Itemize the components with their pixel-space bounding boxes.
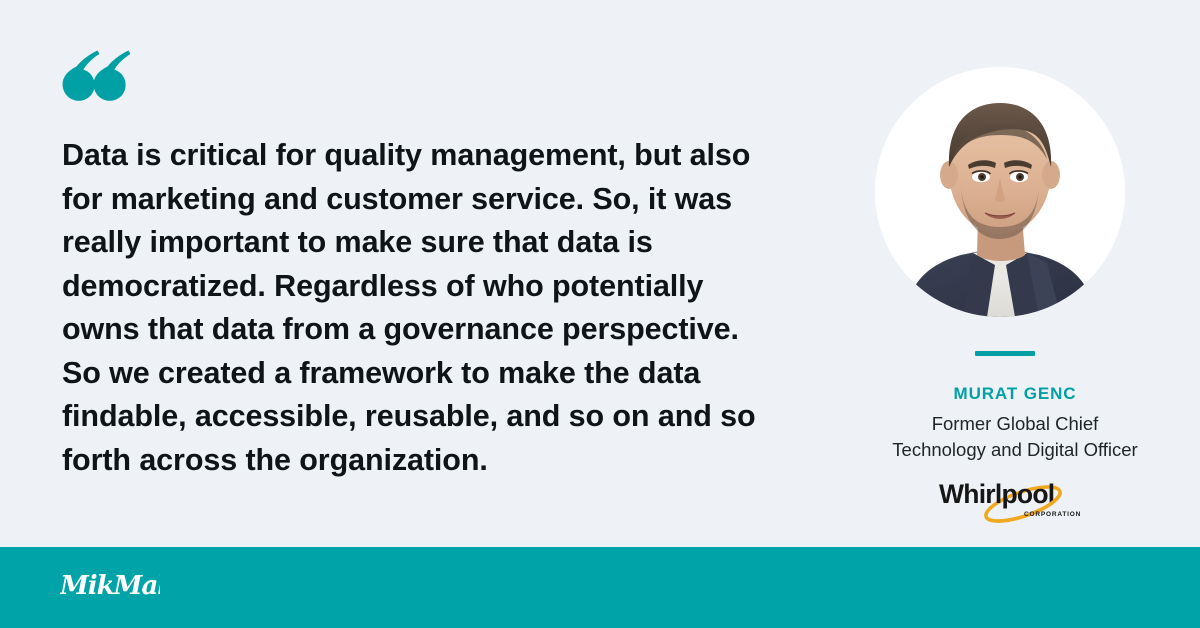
mikmak-logo[interactable]: MikMak xyxy=(60,565,160,605)
attribution-name: MURAT GENC xyxy=(830,384,1200,404)
quote-card: Data is critical for quality management,… xyxy=(0,0,1200,628)
attribution-divider xyxy=(975,351,1035,356)
attribution-section: MURAT GENC Former Global Chief Technolog… xyxy=(830,0,1200,547)
whirlpool-wordmark-text: Whirlpool xyxy=(939,479,1054,509)
quote-section: Data is critical for quality management,… xyxy=(0,0,830,547)
quote-text: Data is critical for quality management,… xyxy=(62,134,782,482)
footer-bar: MikMak xyxy=(0,547,1200,628)
whirlpool-corporation-text: CORPORATION xyxy=(1024,511,1081,518)
quotation-mark-icon xyxy=(60,48,130,108)
avatar xyxy=(875,67,1125,317)
attribution-title: Former Global Chief Technology and Digit… xyxy=(830,411,1200,463)
whirlpool-logo: Whirlpool CORPORATION xyxy=(938,478,1093,524)
mikmak-wordmark-text: MikMak xyxy=(60,571,160,601)
